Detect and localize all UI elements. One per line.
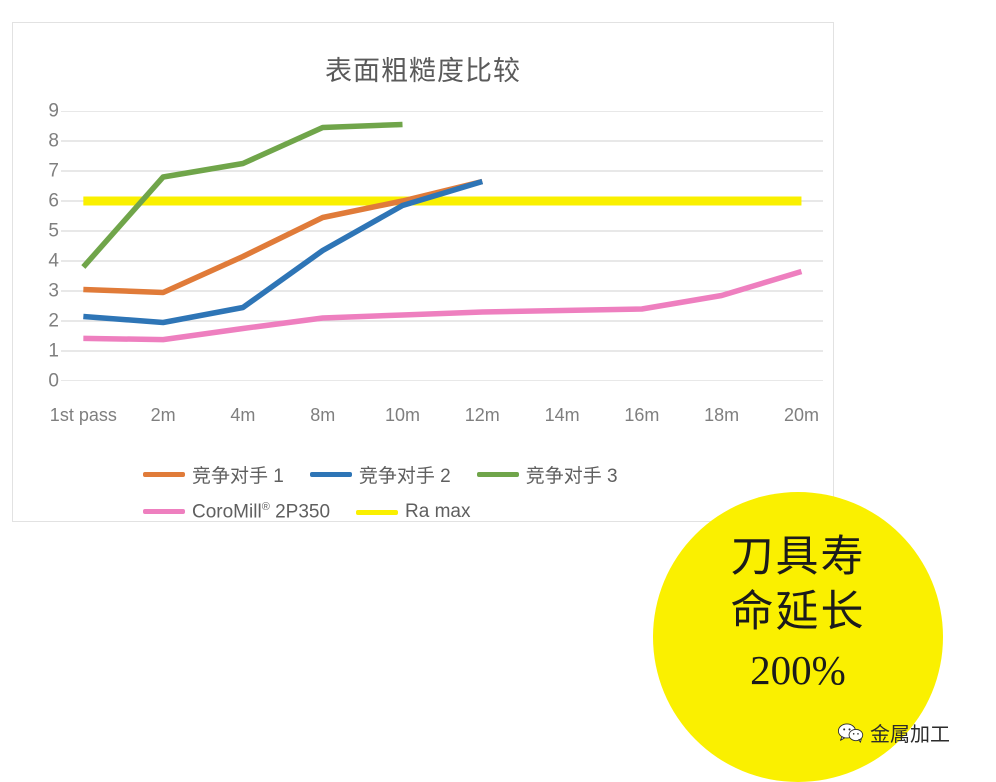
line-chart-svg	[61, 111, 823, 381]
badge-percent: 200%	[653, 640, 943, 702]
y-axis-tick: 9	[48, 102, 59, 121]
wechat-icon	[838, 723, 864, 743]
x-axis-tick: 8m	[310, 405, 335, 427]
y-axis-tick: 7	[48, 162, 59, 181]
chart-panel: 表面粗糙度比较 0123456789 1st pass2m4m8m10m12m1…	[12, 22, 834, 522]
legend-item[interactable]: 竞争对手 2	[310, 461, 451, 488]
y-axis-tick: 2	[48, 312, 59, 331]
x-axis-tick: 20m	[784, 405, 819, 427]
x-axis-tick: 18m	[704, 405, 739, 427]
y-axis-tick: 4	[48, 252, 59, 271]
legend-label: 竞争对手 1	[192, 461, 284, 488]
series-line	[83, 125, 402, 268]
x-axis-tick: 1st pass	[50, 405, 117, 427]
wechat-account-name: 金属加工	[870, 718, 950, 747]
legend-item[interactable]: CoroMill® 2P350	[143, 501, 330, 523]
legend-label: 竞争对手 2	[359, 461, 451, 488]
badge-text: 刀具寿 命延长 200%	[653, 530, 943, 702]
legend-color-swatch	[477, 472, 519, 477]
badge-line-1: 刀具寿	[653, 530, 943, 585]
x-axis-tick: 4m	[230, 405, 255, 427]
y-axis-tick: 6	[48, 192, 59, 211]
y-axis-tick: 0	[48, 372, 59, 391]
y-axis-tick: 8	[48, 132, 59, 151]
x-axis-tick: 10m	[385, 405, 420, 427]
legend-label: 竞争对手 3	[526, 461, 618, 488]
legend-label: Ra max	[405, 501, 470, 523]
legend-item[interactable]: 竞争对手 3	[477, 461, 618, 488]
legend-color-swatch	[143, 509, 185, 514]
x-axis-tick: 14m	[545, 405, 580, 427]
legend-label: CoroMill® 2P350	[192, 501, 330, 523]
legend-color-swatch	[310, 472, 352, 477]
chart-title: 表面粗糙度比较	[13, 49, 833, 88]
legend-item[interactable]: 竞争对手 1	[143, 461, 284, 488]
x-axis-tick: 16m	[624, 405, 659, 427]
legend-row: 竞争对手 1竞争对手 2竞争对手 3	[143, 455, 803, 493]
legend-item[interactable]: Ra max	[356, 501, 470, 523]
y-axis-labels: 0123456789	[31, 111, 59, 381]
legend-color-swatch	[356, 510, 398, 515]
legend-color-swatch	[143, 472, 185, 477]
x-axis-tick: 2m	[151, 405, 176, 427]
x-axis-labels: 1st pass2m4m8m10m12m14m16m18m20m	[61, 405, 823, 431]
wechat-watermark: 金属加工	[838, 718, 950, 747]
x-axis-tick: 12m	[465, 405, 500, 427]
y-axis-tick: 1	[48, 342, 59, 361]
y-axis-tick: 5	[48, 222, 59, 241]
chart-legend: 竞争对手 1竞争对手 2竞争对手 3CoroMill® 2P350Ra max	[143, 455, 803, 531]
badge-line-2: 命延长	[653, 585, 943, 640]
plot-area	[61, 111, 823, 381]
y-axis-tick: 3	[48, 282, 59, 301]
